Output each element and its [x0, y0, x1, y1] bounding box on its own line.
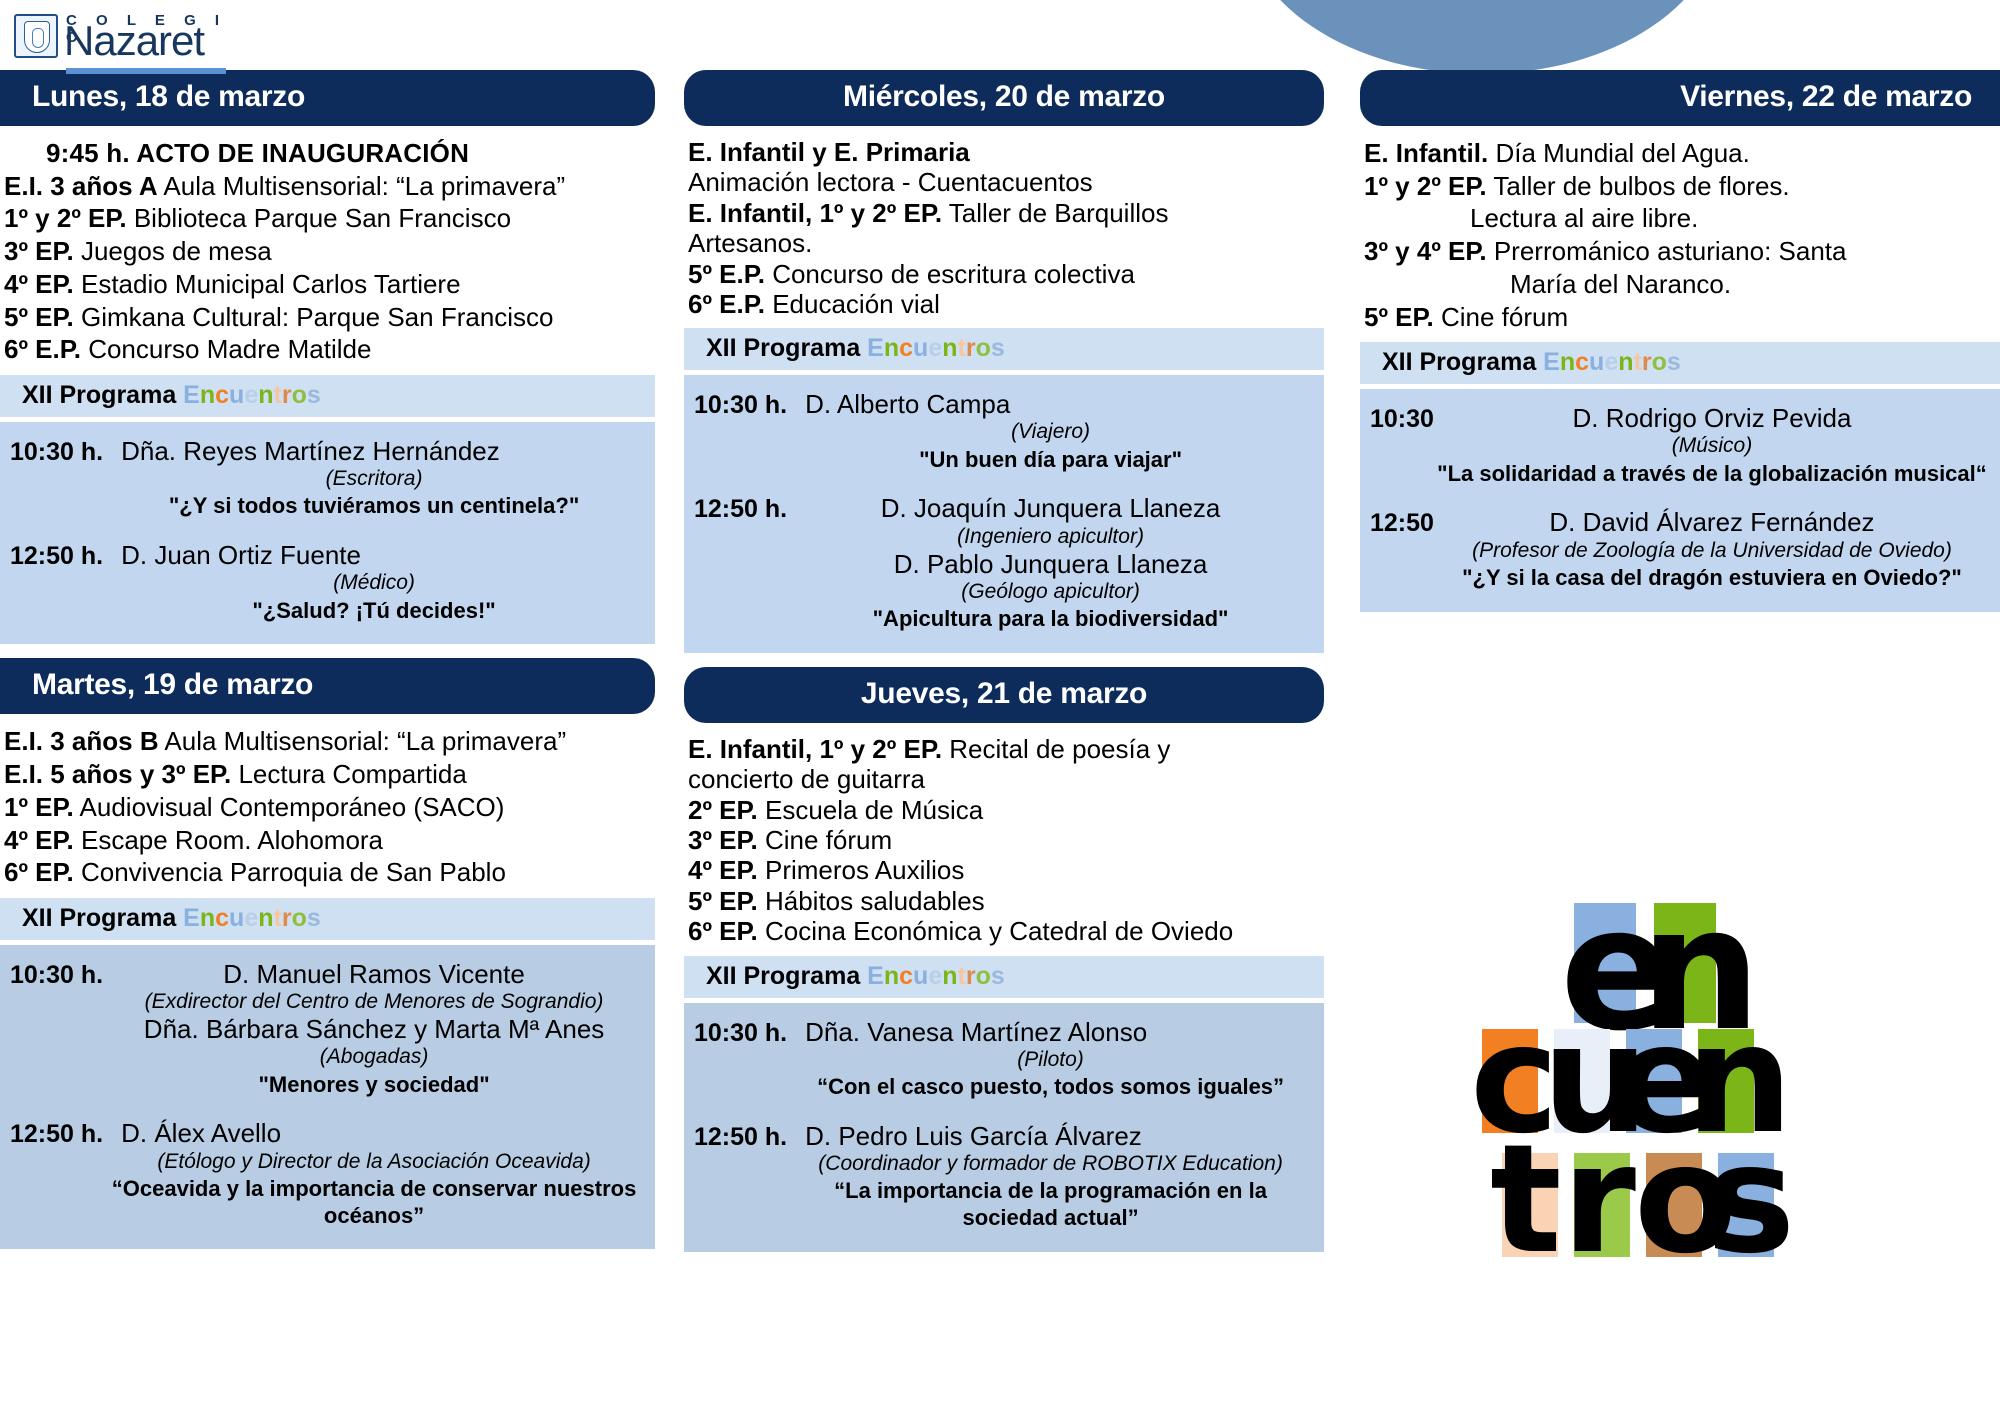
talk-gap — [694, 477, 1314, 493]
talk-role: (Abogadas) — [103, 1044, 645, 1069]
talk-time: 10:30 h. — [694, 1017, 787, 1048]
program-band: XII Programa Encuentros — [0, 898, 655, 940]
activity-item: 4º EP. Escape Room. Alohomora — [0, 825, 655, 858]
activity-item: Artesanos. — [684, 229, 1324, 259]
program-letter-8: o — [976, 334, 991, 362]
program-letter-8: o — [976, 962, 991, 990]
talk-role: (Coordinador y formador de ROBOTIX Educa… — [787, 1151, 1314, 1176]
encuentros-letter: t — [1490, 1125, 1562, 1275]
program-letter-6: t — [274, 904, 282, 932]
program-letter-0: E — [867, 334, 884, 362]
activity-label: E. Infantil, 1º y 2º EP. — [688, 734, 942, 764]
talk-speaker: D. Pablo Junquera Llaneza — [787, 549, 1314, 579]
program-letter-7: r — [966, 962, 976, 990]
talk-title: “Oceavida y la importancia de conservar … — [103, 1176, 645, 1230]
talk-role: (Ingeniero apicultor) — [787, 524, 1314, 549]
talk-time: 12:50 h. — [694, 493, 787, 524]
talk-entry: 12:50 h.D. Juan Ortiz Fuente(Médico)"¿Sa… — [10, 540, 645, 624]
activity-text: Escuela de Música — [758, 795, 983, 825]
program-band-prefix: XII Programa — [22, 381, 183, 409]
activity-label: 3º EP. — [4, 236, 74, 266]
activity-item: E.I. 3 años A Aula Multisensorial: “La p… — [0, 171, 655, 204]
activity-label: 3º y 4º EP. — [1364, 236, 1487, 266]
day-header: Lunes, 18 de marzo — [0, 70, 655, 126]
talk-speaker: D. Alberto Campa — [787, 389, 1314, 419]
talk-entry: 12:50 h.D. Álex Avello(Etólogo y Directo… — [10, 1118, 645, 1229]
activity-text: Convivencia Parroquia de San Pablo — [74, 857, 506, 887]
day-header: Jueves, 21 de marzo — [684, 667, 1324, 723]
talks-panel: 10:30D. Rodrigo Orviz Pevida(Músico)"La … — [1360, 389, 2000, 611]
talk-entry: 10:30 h.Dña. Vanesa Martínez Alonso(Pilo… — [694, 1017, 1314, 1101]
activity-list: E. Infantil, 1º y 2º EP. Recital de poes… — [684, 731, 1324, 950]
activity-label: E.I. 5 años y 3º EP. — [4, 759, 231, 789]
encuentros-logo: encuentros — [1470, 885, 1890, 1285]
activity-item: E. Infantil, 1º y 2º EP. Recital de poes… — [684, 735, 1324, 765]
talk-time: 10:30 h. — [10, 959, 103, 990]
activity-text: concierto de guitarra — [688, 764, 925, 794]
talks-panel: 10:30 h.Dña. Reyes Martínez Hernández(Es… — [0, 422, 655, 644]
program-letter-6: t — [958, 334, 966, 362]
program-letter-0: E — [183, 904, 200, 932]
talk-gap — [1370, 491, 1990, 507]
activity-item: E.I. 5 años y 3º EP. Lectura Compartida — [0, 759, 655, 792]
activity-label: 5º E.P. — [688, 259, 765, 289]
talk-role: (Médico) — [103, 570, 645, 595]
talks-panel: 10:30 h.D. Manuel Ramos Vicente(Exdirect… — [0, 945, 655, 1250]
day-header: Martes, 19 de marzo — [0, 658, 655, 714]
talk-role: (Piloto) — [787, 1047, 1314, 1072]
talk-role: (Profesor de Zoología de la Universidad … — [1434, 538, 1990, 563]
talk-body: D. Alberto Campa(Viajero)"Un buen día pa… — [787, 389, 1314, 473]
program-letter-0: E — [1543, 348, 1560, 376]
activity-item: E. Infantil, 1º y 2º EP. Taller de Barqu… — [684, 199, 1324, 229]
activity-item: 1º EP. Audiovisual Contemporáneo (SACO) — [0, 792, 655, 825]
activity-text: Escape Room. Alohomora — [74, 825, 383, 855]
program-letter-9: s — [1667, 348, 1681, 376]
activity-text: Lectura al aire libre. — [1470, 203, 1698, 233]
program-letter-1: n — [884, 962, 899, 990]
program-letter-5: n — [1618, 348, 1633, 376]
activity-label: 4º EP. — [4, 825, 74, 855]
activity-text: Prerrománico asturiano: Santa — [1487, 236, 1847, 266]
activity-label: 3º EP. — [688, 825, 758, 855]
talk-speaker: D. Joaquín Junquera Llaneza — [787, 493, 1314, 523]
talk-title: "¿Y si la casa del dragón estuviera en O… — [1434, 565, 1990, 592]
activity-item: María del Naranco. — [1360, 269, 2000, 302]
program-letter-5: n — [258, 904, 273, 932]
activity-label: 1º y 2º EP. — [1364, 171, 1487, 201]
encuentros-letter: s — [1706, 1125, 1795, 1275]
program-letter-4: e — [244, 381, 258, 409]
activity-text: Cine fórum — [758, 825, 892, 855]
talk-body: D. David Álvarez Fernández(Profesor de Z… — [1434, 507, 1990, 591]
program-letter-3: u — [913, 962, 928, 990]
activity-item: 5º EP. Hábitos saludables — [684, 887, 1324, 917]
activity-label: E. Infantil. — [1364, 138, 1488, 168]
activity-text: Lectura Compartida — [231, 759, 467, 789]
talk-body: D. Álex Avello(Etólogo y Director de la … — [103, 1118, 645, 1229]
talk-title: "Un buen día para viajar" — [787, 447, 1314, 474]
activity-list: E. Infantil. Día Mundial del Agua.1º y 2… — [1360, 134, 2000, 336]
encuentros-letter: r — [1562, 1125, 1636, 1275]
program-letter-2: c — [1575, 348, 1589, 376]
talk-body: D. Juan Ortiz Fuente(Médico)"¿Salud? ¡Tú… — [103, 540, 645, 624]
shield-icon — [14, 14, 58, 58]
program-letter-5: n — [258, 381, 273, 409]
activity-label: 5º EP. — [1364, 302, 1434, 332]
program-letter-4: e — [928, 962, 942, 990]
program-band-prefix: XII Programa — [1382, 348, 1543, 376]
talk-body: D. Pedro Luis García Álvarez(Coordinador… — [787, 1121, 1314, 1232]
program-letter-3: u — [229, 381, 244, 409]
activity-label: 4º EP. — [688, 855, 758, 885]
school-logo: C O L E G I O Nazaret — [14, 6, 244, 68]
talk-speaker: Dña. Vanesa Martínez Alonso — [787, 1017, 1314, 1047]
talk-speaker: Dña. Bárbara Sánchez y Marta Mª Anes — [103, 1014, 645, 1044]
talk-role: (Músico) — [1434, 433, 1990, 458]
activity-item: 4º EP. Estadio Municipal Carlos Tartiere — [0, 269, 655, 302]
activity-text: Biblioteca Parque San Francisco — [127, 203, 511, 233]
program-letter-7: r — [1642, 348, 1652, 376]
activity-text: Cocina Económica y Catedral de Oviedo — [758, 916, 1233, 946]
talk-body: Dña. Reyes Martínez Hernández(Escritora)… — [103, 436, 645, 520]
talk-body: Dña. Vanesa Martínez Alonso(Piloto)“Con … — [787, 1017, 1314, 1101]
talks-panel: 10:30 h.D. Alberto Campa(Viajero)"Un bue… — [684, 375, 1324, 653]
talk-title: "¿Salud? ¡Tú decides!" — [103, 598, 645, 625]
activity-text: Juegos de mesa — [74, 236, 272, 266]
program-band: XII Programa Encuentros — [0, 375, 655, 417]
activity-item: 5º EP. Gimkana Cultural: Parque San Fran… — [0, 302, 655, 335]
talk-title: "La solidaridad a través de la globaliza… — [1434, 461, 1990, 488]
program-letter-5: n — [942, 334, 957, 362]
talk-gap — [10, 524, 645, 540]
activity-item: E.I. 3 años B Aula Multisensorial: “La p… — [0, 726, 655, 759]
talk-time: 12:50 — [1370, 507, 1434, 538]
activity-label: E.I. 3 años B — [4, 726, 159, 756]
program-letter-9: s — [307, 904, 321, 932]
talk-title: "¿Y si todos tuviéramos un centinela?" — [103, 493, 645, 520]
program-band: XII Programa Encuentros — [684, 328, 1324, 370]
activity-item: 1º y 2º EP. Biblioteca Parque San Franci… — [0, 203, 655, 236]
activity-label: 4º EP. — [4, 269, 74, 299]
talk-entry: 12:50D. David Álvarez Fernández(Profesor… — [1370, 507, 1990, 591]
talk-title: “La importancia de la programación en la… — [787, 1178, 1314, 1232]
day-block: Jueves, 21 de marzoE. Infantil, 1º y 2º … — [684, 667, 1324, 1252]
day-block: Lunes, 18 de marzo9:45 h. ACTO DE INAUGU… — [0, 70, 655, 644]
activity-label: 6º EP. — [688, 916, 758, 946]
activity-list: E. Infantil y E. PrimariaAnimación lecto… — [684, 134, 1324, 322]
talk-speaker: D. Juan Ortiz Fuente — [103, 540, 645, 570]
program-letter-9: s — [991, 334, 1005, 362]
day-header: Miércoles, 20 de marzo — [684, 70, 1324, 126]
talk-time: 10:30 h. — [10, 436, 103, 467]
day-block: Martes, 19 de marzoE.I. 3 años B Aula Mu… — [0, 658, 655, 1249]
talk-time: 10:30 — [1370, 403, 1434, 434]
program-letter-4: e — [928, 334, 942, 362]
activity-text: Taller de Barquillos — [942, 198, 1168, 228]
talk-entry: 10:30D. Rodrigo Orviz Pevida(Músico)"La … — [1370, 403, 1990, 487]
activity-label: 1º y 2º EP. — [4, 203, 127, 233]
activity-item: 3º y 4º EP. Prerrománico asturiano: Sant… — [1360, 236, 2000, 269]
decorative-arc — [1242, 0, 1722, 74]
program-letter-0: E — [867, 962, 884, 990]
activity-item: 3º EP. Juegos de mesa — [0, 236, 655, 269]
program-letter-7: r — [282, 904, 292, 932]
talk-entry: 10:30 h.D. Manuel Ramos Vicente(Exdirect… — [10, 959, 645, 1099]
program-letter-2: c — [899, 962, 913, 990]
program-letter-7: r — [282, 381, 292, 409]
program-band-prefix: XII Programa — [706, 334, 867, 362]
logo-nazaret-text: Nazaret — [64, 20, 204, 62]
activity-text: Audiovisual Contemporáneo (SACO) — [74, 792, 505, 822]
logo-underline — [66, 68, 226, 74]
activity-item: 9:45 h. ACTO DE INAUGURACIÓN — [0, 138, 655, 171]
activity-item: 3º EP. Cine fórum — [684, 826, 1324, 856]
activity-item: 6º E.P. Concurso Madre Matilde — [0, 334, 655, 367]
activity-label: 2º EP. — [688, 795, 758, 825]
talk-speaker: D. Álex Avello — [103, 1118, 645, 1148]
program-letter-6: t — [274, 381, 282, 409]
activity-text: Aula Multisensorial: “La primavera” — [158, 171, 566, 201]
program-letter-1: n — [200, 904, 215, 932]
talk-speaker: Dña. Reyes Martínez Hernández — [103, 436, 645, 466]
activity-text: Aula Multisensorial: “La primavera” — [159, 726, 567, 756]
activity-item: 5º EP. Cine fórum — [1360, 302, 2000, 335]
program-letter-2: c — [215, 904, 229, 932]
program-letter-7: r — [966, 334, 976, 362]
activity-text: Cine fórum — [1434, 302, 1568, 332]
program-letter-6: t — [1634, 348, 1642, 376]
activity-text: Taller de bulbos de flores. — [1487, 171, 1790, 201]
activity-label: E. Infantil y E. Primaria — [688, 137, 970, 167]
program-letter-3: u — [913, 334, 928, 362]
activity-item: 6º E.P. Educación vial — [684, 290, 1324, 320]
talk-time: 10:30 h. — [694, 389, 787, 420]
activity-item: E. Infantil. Día Mundial del Agua. — [1360, 138, 2000, 171]
talk-time: 12:50 h. — [10, 540, 103, 571]
column-2: Miércoles, 20 de marzoE. Infantil y E. P… — [684, 70, 1324, 1266]
talk-gap — [10, 1102, 645, 1118]
activity-label: 1º EP. — [4, 792, 74, 822]
activity-text: Primeros Auxilios — [758, 855, 965, 885]
program-letter-9: s — [307, 381, 321, 409]
activity-item: 6º EP. Convivencia Parroquia de San Pabl… — [0, 857, 655, 890]
program-letter-4: e — [244, 904, 258, 932]
talk-body: D. Rodrigo Orviz Pevida(Músico)"La solid… — [1434, 403, 1990, 487]
program-band: XII Programa Encuentros — [684, 956, 1324, 998]
program-letter-1: n — [1560, 348, 1575, 376]
talk-speaker: D. Manuel Ramos Vicente — [103, 959, 645, 989]
day-block: Viernes, 22 de marzoE. Infantil. Día Mun… — [1360, 70, 2000, 612]
talk-role: (Exdirector del Centro de Menores de Sog… — [103, 989, 645, 1014]
activity-text: Artesanos. — [688, 228, 812, 258]
talk-body: D. Manuel Ramos Vicente(Exdirector del C… — [103, 959, 645, 1099]
talk-body: D. Joaquín Junquera Llaneza(Ingeniero ap… — [787, 493, 1314, 633]
program-letter-0: E — [183, 381, 200, 409]
talk-title: "Apicultura para la biodiversidad" — [787, 606, 1314, 633]
activity-text: María del Naranco. — [1510, 269, 1731, 299]
activity-label: 5º EP. — [4, 302, 74, 332]
day-block: Miércoles, 20 de marzoE. Infantil y E. P… — [684, 70, 1324, 653]
column-3: Viernes, 22 de marzoE. Infantil. Día Mun… — [1360, 70, 2000, 626]
talk-speaker: D. David Álvarez Fernández — [1434, 507, 1990, 537]
talk-title: "Menores y sociedad" — [103, 1072, 645, 1099]
program-letter-8: o — [1652, 348, 1667, 376]
activity-label: 6º EP. — [4, 857, 74, 887]
program-letter-2: c — [215, 381, 229, 409]
program-letter-1: n — [884, 334, 899, 362]
activity-list: 9:45 h. ACTO DE INAUGURACIÓNE.I. 3 años … — [0, 134, 655, 369]
program-letter-3: u — [1589, 348, 1604, 376]
program-band-prefix: XII Programa — [706, 962, 867, 990]
program-letter-3: u — [229, 904, 244, 932]
activity-label: 6º E.P. — [4, 334, 81, 364]
activity-text: Concurso de escritura colectiva — [765, 259, 1135, 289]
program-letter-4: e — [1604, 348, 1618, 376]
activity-label: E. Infantil, 1º y 2º EP. — [688, 198, 942, 228]
talk-gap — [694, 1105, 1314, 1121]
program-band-prefix: XII Programa — [22, 904, 183, 932]
day-header: Viernes, 22 de marzo — [1360, 70, 2000, 126]
program-band: XII Programa Encuentros — [1360, 342, 2000, 384]
activity-item: Lectura al aire libre. — [1360, 203, 2000, 236]
talk-role: (Viajero) — [787, 419, 1314, 444]
activity-label: E.I. 3 años A — [4, 171, 158, 201]
talk-time: 12:50 h. — [10, 1118, 103, 1149]
talk-title: “Con el casco puesto, todos somos iguale… — [787, 1074, 1314, 1101]
activity-item: Animación lectora - Cuentacuentos — [684, 168, 1324, 198]
activity-text: Hábitos saludables — [758, 886, 985, 916]
activity-item: 4º EP. Primeros Auxilios — [684, 856, 1324, 886]
activity-text: Recital de poesía y — [942, 734, 1170, 764]
activity-item: 1º y 2º EP. Taller de bulbos de flores. — [1360, 171, 2000, 204]
talk-speaker: D. Rodrigo Orviz Pevida — [1434, 403, 1990, 433]
program-letter-5: n — [942, 962, 957, 990]
poster-root: C O L E G I O Nazaret Lunes, 18 de marzo… — [0, 0, 2000, 1414]
activity-label: 5º EP. — [688, 886, 758, 916]
talk-entry: 12:50 h.D. Pedro Luis García Álvarez(Coo… — [694, 1121, 1314, 1232]
program-letter-6: t — [958, 962, 966, 990]
talk-role: (Geólogo apicultor) — [787, 579, 1314, 604]
talk-time: 12:50 h. — [694, 1121, 787, 1152]
activity-text: Estadio Municipal Carlos Tartiere — [74, 269, 461, 299]
program-letter-8: o — [292, 381, 307, 409]
activity-text: Animación lectora - Cuentacuentos — [688, 167, 1093, 197]
activity-item: 2º EP. Escuela de Música — [684, 796, 1324, 826]
activity-label: 6º E.P. — [688, 289, 765, 319]
talk-entry: 10:30 h.D. Alberto Campa(Viajero)"Un bue… — [694, 389, 1314, 473]
column-1: Lunes, 18 de marzo9:45 h. ACTO DE INAUGU… — [0, 70, 655, 1263]
talk-role: (Escritora) — [103, 466, 645, 491]
activity-text: Día Mundial del Agua. — [1488, 138, 1750, 168]
activity-item: concierto de guitarra — [684, 765, 1324, 795]
program-letter-8: o — [292, 904, 307, 932]
talk-entry: 12:50 h.D. Joaquín Junquera Llaneza(Inge… — [694, 493, 1314, 633]
activity-text: Gimkana Cultural: Parque San Francisco — [74, 302, 554, 332]
talks-panel: 10:30 h.Dña. Vanesa Martínez Alonso(Pilo… — [684, 1003, 1324, 1252]
activity-item: 5º E.P. Concurso de escritura colectiva — [684, 260, 1324, 290]
activity-list: E.I. 3 años B Aula Multisensorial: “La p… — [0, 722, 655, 892]
activity-item: E. Infantil y E. Primaria — [684, 138, 1324, 168]
talk-entry: 10:30 h.Dña. Reyes Martínez Hernández(Es… — [10, 436, 645, 520]
program-letter-9: s — [991, 962, 1005, 990]
program-letter-2: c — [899, 334, 913, 362]
activity-item: 6º EP. Cocina Económica y Catedral de Ov… — [684, 917, 1324, 947]
activity-text: Concurso Madre Matilde — [81, 334, 371, 364]
program-letter-1: n — [200, 381, 215, 409]
activity-text: Educación vial — [765, 289, 940, 319]
talk-speaker: D. Pedro Luis García Álvarez — [787, 1121, 1314, 1151]
talk-role: (Etólogo y Director de la Asociación Oce… — [103, 1149, 645, 1174]
